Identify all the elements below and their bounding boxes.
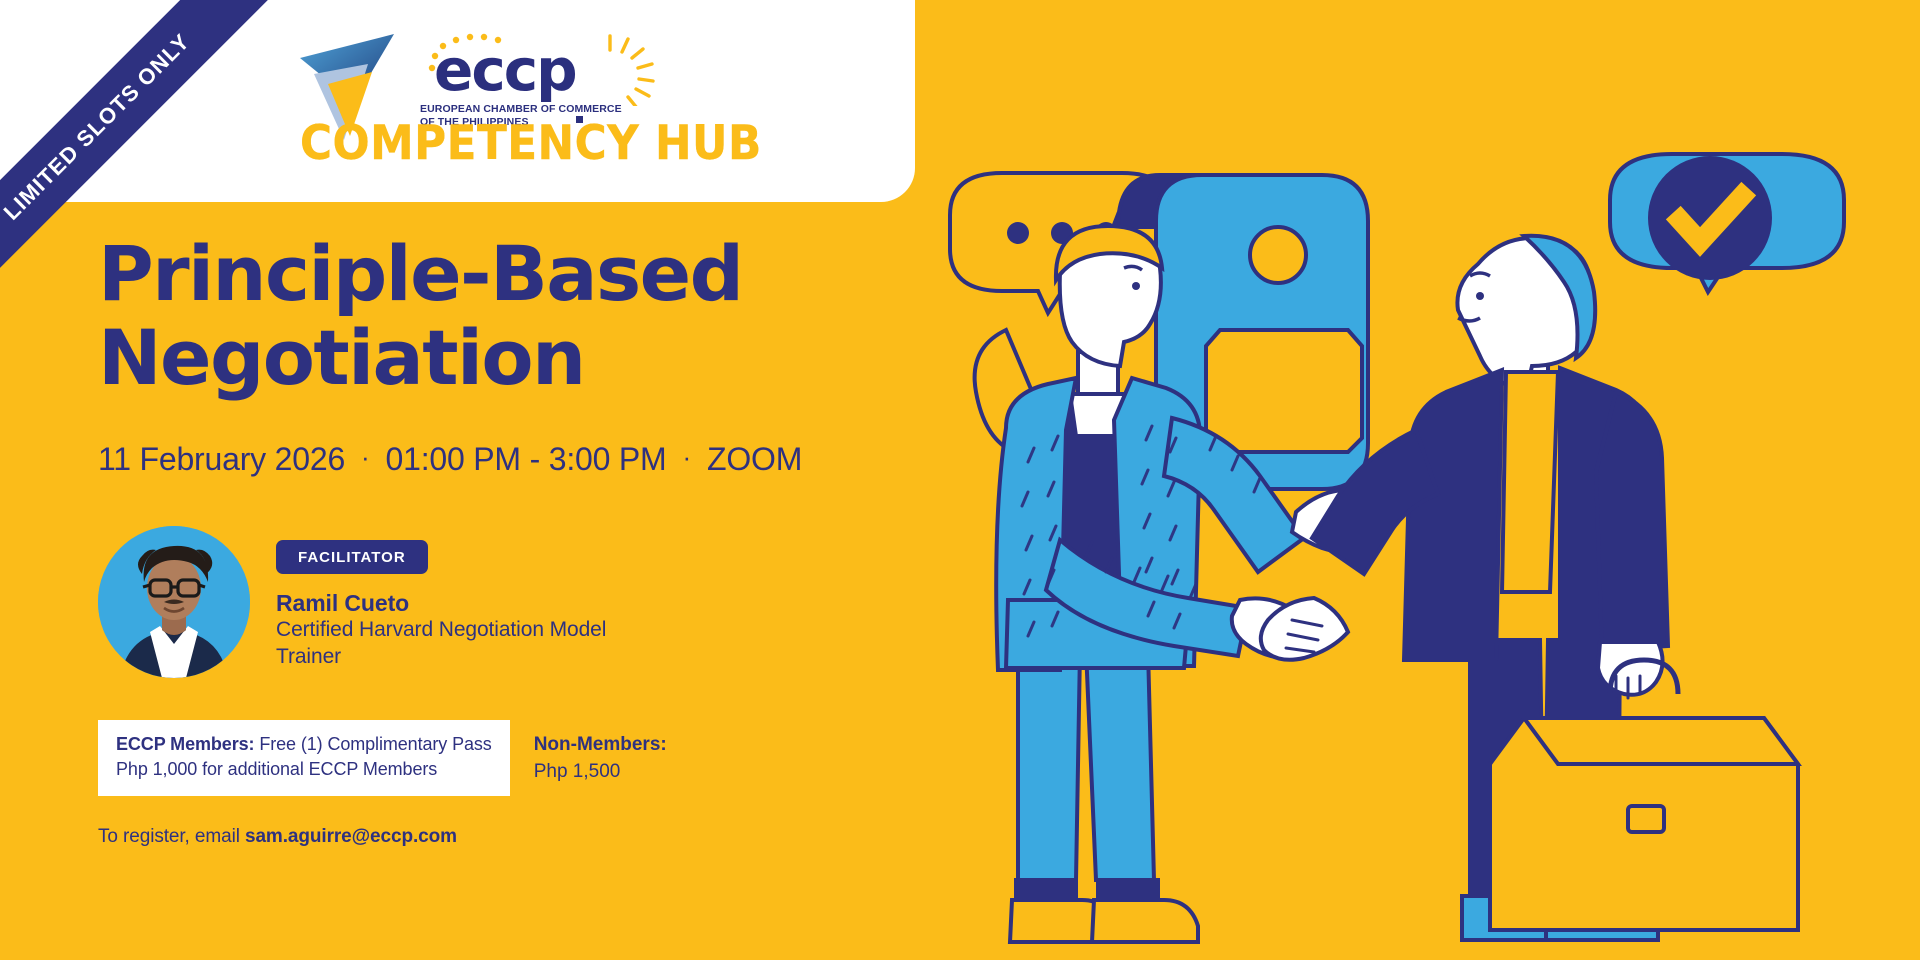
member-pricing-label: ECCP Members: <box>116 734 254 754</box>
eccp-wordmark-icon: eccp <box>414 28 674 106</box>
nonmember-pricing-value: Php 1,500 <box>534 758 667 786</box>
event-platform: ZOOM <box>707 441 802 478</box>
member-pricing-value: Free (1) Complimentary Pass <box>259 734 491 754</box>
facilitator-section: FACILITATOR Ramil Cueto Certified Harvar… <box>98 526 928 678</box>
meta-separator-2: · <box>683 444 691 470</box>
nonmember-pricing: Non-Members: Php 1,500 <box>534 720 667 786</box>
event-date: 11 February 2026 <box>98 441 345 478</box>
facilitator-title: Certified Harvard Negotiation Model Trai… <box>276 617 676 671</box>
event-meta: 11 February 2026 · 01:00 PM - 3:00 PM · … <box>98 441 928 478</box>
title-line-1: Principle-Based <box>98 232 928 316</box>
member-pricing-box: ECCP Members: Free (1) Complimentary Pas… <box>98 720 510 796</box>
eccp-logo: eccp EUROPEAN CHAMBER OF COMMERCE OF THE… <box>298 24 798 174</box>
svg-text:eccp: eccp <box>434 36 576 104</box>
header-panel: eccp EUROPEAN CHAMBER OF COMMERCE OF THE… <box>0 0 915 202</box>
facilitator-name: Ramil Cueto <box>276 590 676 617</box>
registration-prefix: To register, email <box>98 826 245 847</box>
meta-separator-1: · <box>361 444 369 470</box>
pricing-section: ECCP Members: Free (1) Complimentary Pas… <box>98 720 928 796</box>
facilitator-portrait-icon <box>98 526 250 678</box>
poster-canvas: eccp EUROPEAN CHAMBER OF COMMERCE OF THE… <box>0 0 1920 960</box>
registration-line: To register, email sam.aguirre@eccp.com <box>98 826 928 848</box>
avatar <box>98 526 250 678</box>
member-pricing-additional: Php 1,000 for additional ECCP Members <box>116 757 492 783</box>
event-time: 01:00 PM - 3:00 PM <box>386 441 667 478</box>
program-name: COMPETENCY HUB <box>300 120 763 167</box>
title-line-2: Negotiation <box>98 316 928 400</box>
registration-email[interactable]: sam.aguirre@eccp.com <box>245 826 457 847</box>
negotiation-handshake-illustration <box>910 0 1920 960</box>
page-title: Principle-Based Negotiation <box>98 232 928 401</box>
nonmember-pricing-label: Non-Members: <box>534 731 667 759</box>
status-badge: FACILITATOR <box>276 540 428 574</box>
event-details: Principle-Based Negotiation 11 February … <box>98 232 928 848</box>
